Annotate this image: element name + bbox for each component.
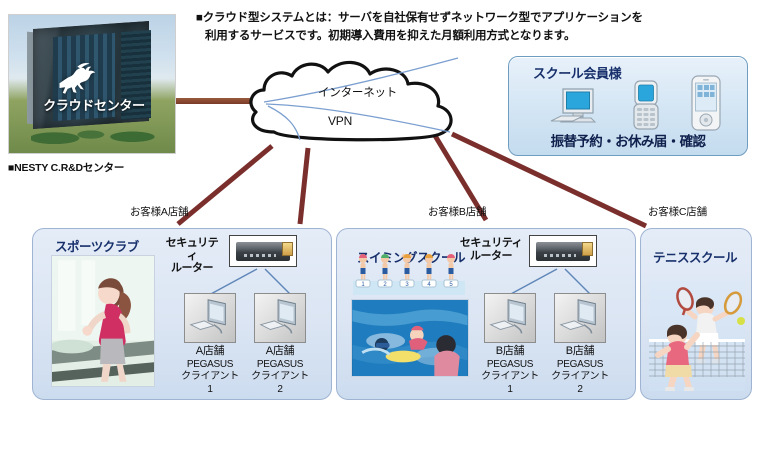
store-a-title: スポーツクラブ [55, 236, 139, 255]
store-c-title: テニススクール [653, 247, 737, 266]
store-b-router[interactable] [529, 235, 597, 267]
router-status-badge [282, 242, 293, 256]
client-line-3: クライアント2 [551, 371, 609, 395]
store-b-router-label: セキュリティ ルーター [459, 237, 523, 262]
datacenter-caption: ■NESTY C.R&Dセンター [8, 160, 188, 175]
desktop-pc-icon [254, 293, 306, 343]
store-b-router-label-1: セキュリティ [460, 237, 522, 249]
network-cloud: インターネット VPN [244, 54, 460, 152]
header-description: ■クラウド型システムとは：サーバを自社保有せずネットワーク型でアプリケーションを… [196, 10, 756, 46]
store-panel-a: スポーツクラブ [32, 228, 332, 400]
school-members-panel: スクール会員様 [508, 56, 748, 156]
store-panel-c: テニススクール [640, 228, 752, 400]
store-b-client-1[interactable]: B店舗 PEGASUS クライアント1 [481, 293, 539, 396]
router-status-badge [582, 242, 593, 256]
header-line-2: 利用するサービスです。初期導入費用を抑えた月額利用方式となります。 [196, 28, 756, 46]
client-line-2: PEGASUS [557, 359, 603, 370]
desktop-pc-icon [484, 293, 536, 343]
store-a-router[interactable] [229, 235, 297, 267]
store-a-client-2[interactable]: A店舗 PEGASUS クライアント2 [251, 293, 309, 396]
customer-label-store-a: お客様A店舗 [130, 204, 188, 219]
datacenter-photo: クラウドセンター [8, 14, 176, 154]
store-b-client-2[interactable]: B店舗 PEGASUS クライアント2 [551, 293, 609, 396]
client-line-3: クライアント2 [251, 371, 309, 395]
client-line-3: クライアント1 [481, 371, 539, 395]
building-landscaping [31, 113, 161, 149]
client-line-1: B店舗 [566, 345, 594, 357]
store-a-client-2-caption: A店舗 PEGASUS クライアント2 [251, 345, 309, 396]
store-b-router-label-2: ルーター [470, 250, 512, 262]
school-members-subtitle: 振替予約・お休み届・確認 [509, 130, 747, 150]
swimming-pool-photo [351, 299, 469, 377]
diagram-canvas: ■クラウド型システムとは：サーバを自社保有せずネットワーク型でアプリケーションを… [0, 0, 762, 450]
treadmill-woman-illustration [51, 255, 155, 387]
store-b-client-1-caption: B店舗 PEGASUS クライアント1 [481, 345, 539, 396]
flip-phone-icon [626, 79, 666, 131]
cloud-label-vpn: VPN [328, 114, 352, 128]
client-line-3: クライアント1 [181, 371, 239, 395]
client-line-2: PEGASUS [487, 359, 533, 370]
client-line-1: B店舗 [496, 345, 524, 357]
smartphone-icon [688, 75, 724, 131]
header-line-1: ■クラウド型システムとは：サーバを自社保有せずネットワーク型でアプリケーションを [196, 12, 643, 24]
desktop-pc-icon [184, 293, 236, 343]
store-panel-b: スイミングスクール 1 [336, 228, 636, 400]
desktop-pc-icon [554, 293, 606, 343]
store-a-client-1[interactable]: A店舗 PEGASUS クライアント1 [181, 293, 239, 396]
connector-cloud-to-store-a2 [300, 148, 308, 224]
member-device-group [549, 79, 724, 131]
customer-label-store-b: お客様B店舗 [428, 204, 486, 219]
datacenter-overlay-label: クラウドセンター [29, 95, 159, 114]
store-a-client-1-caption: A店舗 PEGASUS クライアント1 [181, 345, 239, 396]
pegasus-icon [53, 55, 105, 95]
cloud-label-internet: インターネット [318, 84, 397, 100]
store-a-router-label: セキュリティ ルーター [161, 237, 223, 275]
tennis-players-illustration [649, 281, 745, 391]
store-a-router-label-1: セキュリティ [166, 237, 219, 262]
store-a-router-label-2: ルーター [171, 262, 213, 274]
swimmers-starting-blocks: 1 2 3 [353, 253, 465, 295]
connector-cloud-to-store-a [178, 146, 272, 224]
desktop-pc-icon [549, 83, 603, 131]
store-b-client-2-caption: B店舗 PEGASUS クライアント2 [551, 345, 609, 396]
client-line-2: PEGASUS [257, 359, 303, 370]
customer-label-store-c: お客様C店舗 [648, 204, 707, 219]
client-line-1: A店舗 [266, 345, 294, 357]
client-line-2: PEGASUS [187, 359, 233, 370]
cloud-outline [251, 62, 451, 139]
client-line-1: A店舗 [196, 345, 224, 357]
